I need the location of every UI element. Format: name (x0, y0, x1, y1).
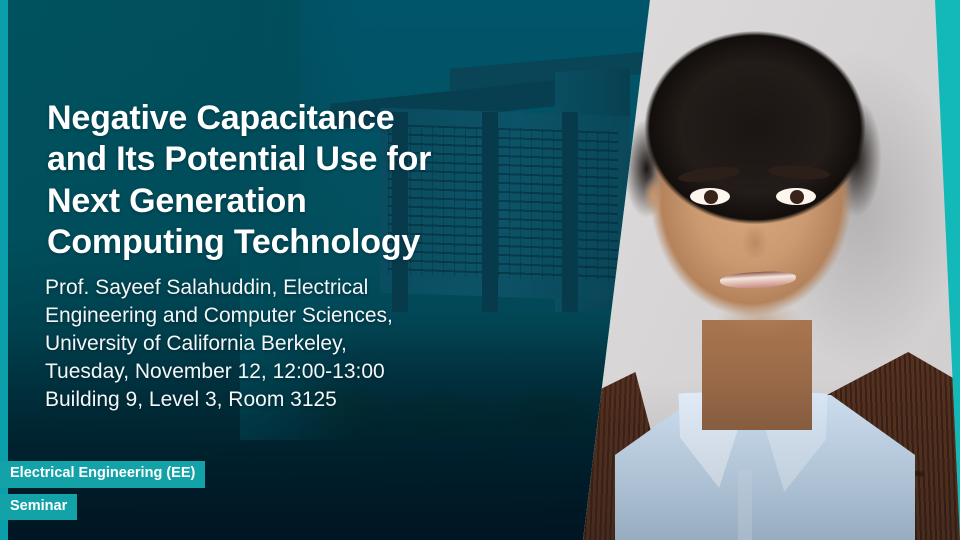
title-line: Computing Technology (47, 222, 477, 263)
tag-chip-group: Electrical Engineering (EE) Seminar (0, 461, 205, 526)
seminar-announcement-slide: Negative Capacitance and Its Potential U… (0, 0, 960, 540)
title-line: Next Generation (47, 181, 477, 222)
seminar-details: Prof. Sayeef Salahuddin, Electrical Engi… (45, 274, 465, 414)
tag-chip-department[interactable]: Electrical Engineering (EE) (0, 461, 205, 488)
details-line-speaker: Prof. Sayeef Salahuddin, Electrical (45, 274, 465, 302)
details-line-department: Engineering and Computer Sciences, (45, 302, 465, 330)
seminar-title: Negative Capacitance and Its Potential U… (47, 98, 477, 263)
building-column-middle (482, 112, 498, 313)
details-line-datetime: Tuesday, November 12, 12:00-13:00 (45, 358, 465, 386)
tag-chip-event-type[interactable]: Seminar (0, 494, 77, 521)
title-line: Negative Capacitance (47, 98, 477, 139)
details-line-institution: University of California Berkeley, (45, 330, 465, 358)
building-column-right (562, 112, 578, 313)
tag-chip-row: Seminar (0, 494, 205, 521)
title-line: and Its Potential Use for (47, 139, 477, 180)
left-accent-strip (0, 0, 8, 540)
tag-chip-row: Electrical Engineering (EE) (0, 461, 205, 488)
details-line-location: Building 9, Level 3, Room 3125 (45, 386, 465, 414)
